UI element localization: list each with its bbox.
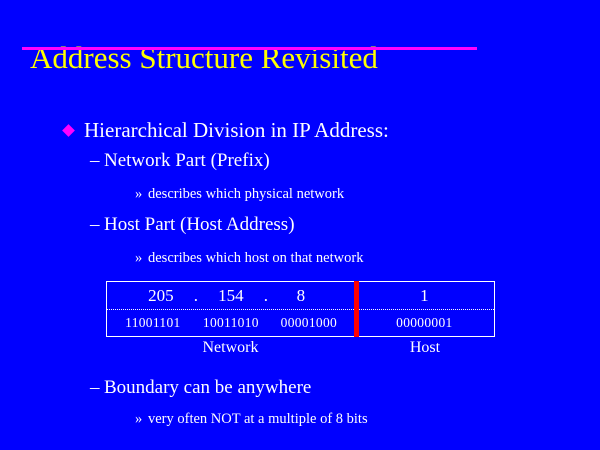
- bullet-hierarchical-division: Hierarchical Division in IP Address:: [64, 118, 389, 142]
- title-underline-rule: [22, 47, 477, 50]
- bullet-host-part: – Host Part (Host Address): [90, 214, 295, 236]
- bullet-host-part-label: Host Part (Host Address): [104, 214, 295, 236]
- dash-bullet-icon: –: [90, 150, 104, 172]
- bullet-host-part-detail-label: describes which host on that network: [148, 250, 363, 267]
- bullet-network-part-detail: » describes which physical network: [135, 186, 344, 203]
- slide-canvas: Address Structure Revisited Hierarchical…: [0, 0, 600, 450]
- bullet-boundary: – Boundary can be anywhere: [90, 377, 311, 399]
- page-title: Address Structure Revisited: [0, 40, 600, 76]
- decimal-network-cells: 205 . 154 . 8: [107, 286, 355, 306]
- caption-host: Host: [355, 339, 495, 357]
- binary-octet-1: 11001101: [114, 315, 192, 331]
- binary-octet-2: 10011010: [192, 315, 270, 331]
- bullet-host-part-detail: » describes which host on that network: [135, 250, 363, 267]
- binary-network-cells: 11001101 10011010 00001000: [107, 315, 355, 331]
- binary-octet-4: 00000001: [396, 315, 452, 331]
- decimal-octet-3: 8: [275, 286, 327, 306]
- address-structure-diagram: 205 . 154 . 8 1 11001101 10011010 000010…: [106, 281, 495, 337]
- decimal-host-cell: 1: [355, 286, 494, 306]
- bullet-network-part: – Network Part (Prefix): [90, 150, 270, 172]
- bullet-network-part-label: Network Part (Prefix): [104, 150, 270, 172]
- bullet-hierarchical-division-label: Hierarchical Division in IP Address:: [84, 118, 389, 142]
- title-block: Address Structure Revisited: [0, 40, 600, 76]
- binary-host-cell: 00000001: [355, 315, 494, 331]
- dash-bullet-icon: –: [90, 377, 104, 399]
- caption-network: Network: [106, 339, 355, 357]
- bullet-boundary-detail: » very often NOT at a multiple of 8 bits: [135, 411, 368, 428]
- binary-address-row: 11001101 10011010 00001000 00000001: [107, 309, 494, 336]
- decimal-octet-2: 154: [205, 286, 257, 306]
- diamond-bullet-icon: [62, 124, 75, 137]
- guillemet-bullet-icon: »: [135, 411, 148, 428]
- decimal-octet-4: 1: [420, 286, 429, 306]
- bullet-boundary-detail-label: very often NOT at a multiple of 8 bits: [148, 411, 368, 428]
- network-host-boundary-bar: [354, 281, 359, 337]
- guillemet-bullet-icon: »: [135, 186, 148, 203]
- bullet-boundary-label: Boundary can be anywhere: [104, 377, 311, 399]
- decimal-separator-1: .: [187, 286, 205, 306]
- dash-bullet-icon: –: [90, 214, 104, 236]
- decimal-octet-1: 205: [135, 286, 187, 306]
- decimal-separator-2: .: [257, 286, 275, 306]
- bullet-network-part-detail-label: describes which physical network: [148, 186, 344, 203]
- guillemet-bullet-icon: »: [135, 250, 148, 267]
- binary-octet-3: 00001000: [270, 315, 348, 331]
- decimal-address-row: 205 . 154 . 8 1: [107, 282, 494, 309]
